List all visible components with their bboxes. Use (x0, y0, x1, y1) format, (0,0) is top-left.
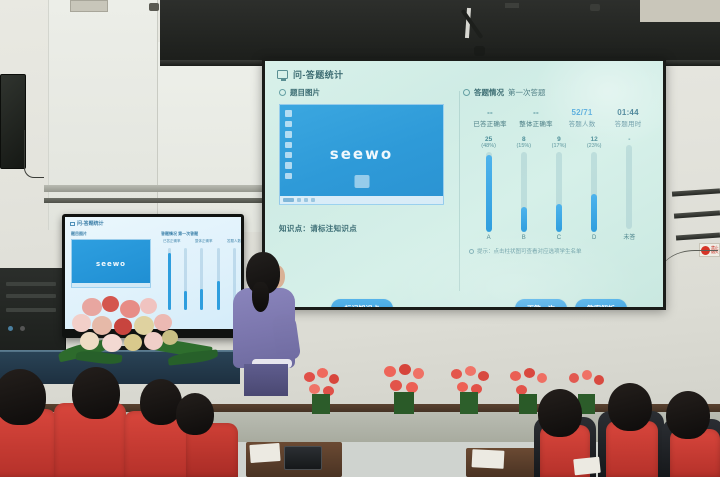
stat-label: 答题用时 (605, 118, 651, 128)
wall-panel-mid (158, 42, 270, 232)
foliage (312, 394, 330, 414)
podium-thumbnail-taskbar (72, 283, 150, 287)
podium-stats-row: 已答正确率 整体正确率 答题人数 (161, 239, 241, 244)
ceiling-sensor (590, 4, 600, 11)
foliage (394, 392, 414, 414)
flower (510, 371, 521, 381)
bar-track (521, 152, 527, 232)
bar-track (591, 152, 597, 232)
flower (317, 368, 328, 378)
podium-left-heading: 题目图片 (71, 231, 155, 237)
app-title-bar: 问-答题统计 (277, 68, 343, 81)
stat-answered-accuracy: -- 已答正确率 (467, 108, 513, 128)
bar-column-d[interactable]: 12 (23%) D (584, 136, 604, 241)
stat-respondent-count: 52/71 答题人数 (559, 108, 605, 128)
rose (72, 314, 91, 332)
audience-head (666, 391, 710, 439)
section-bullet-icon (463, 89, 470, 96)
rose (102, 334, 122, 352)
bar-column-b[interactable]: 8 (15%) B (514, 136, 534, 241)
flower (569, 373, 579, 383)
taskbar-item (311, 198, 315, 202)
cabinet-button[interactable] (20, 326, 25, 331)
projection-screen[interactable]: 问-答题统计 题目图片 (265, 61, 663, 307)
stat-value: -- (467, 108, 513, 117)
bar-value: 9 (557, 136, 561, 143)
audience-head (72, 367, 120, 419)
bar-column-a[interactable]: 25 (48%) A (479, 136, 499, 241)
panel-divider (459, 91, 460, 291)
cabinet-slot (6, 294, 56, 298)
taskbar-item (297, 198, 301, 202)
flower (457, 382, 468, 392)
answer-again-button[interactable]: 再答一次 (515, 299, 567, 307)
answer-stats-title: 答题情况 (474, 87, 504, 98)
rose (80, 332, 99, 350)
stat-elapsed-time: 01:44 答题用时 (605, 108, 651, 128)
bar-value: 12 (591, 136, 598, 143)
desktop-icon (285, 173, 292, 179)
monitor-icon (70, 222, 75, 226)
projection-screen-frame: 问-答题统计 题目图片 (262, 58, 666, 310)
stage-flower-arrangement (380, 364, 430, 414)
bar-track (626, 145, 632, 229)
bar-label: 未答 (623, 232, 635, 241)
paper-sheet (249, 443, 280, 463)
podium-stat-label: 已答正确率 (163, 239, 181, 244)
page-title: 问-答题统计 (293, 68, 343, 81)
desktop-icon (285, 110, 292, 117)
rose (92, 316, 112, 335)
podium-stat-label: 整体正确率 (195, 239, 213, 244)
audience-head (538, 389, 582, 437)
podium-left-panel: 题目图片 seewo (71, 231, 155, 288)
thumbnail-badge-icon (354, 175, 369, 188)
cabinet-slot (6, 308, 56, 312)
stats-row: -- 已答正确率 -- 整体正确率 52/71 答题人数 01:44 答题用时 (463, 104, 655, 128)
camera-icon (149, 3, 159, 11)
ceiling-valance (160, 0, 720, 66)
stage-flower-arrangement (446, 366, 494, 414)
classroom-scene: 禁止 烟火 问-答题统计 题目图片 (0, 0, 720, 477)
bar-label: B (522, 235, 526, 241)
bar-fill (556, 204, 562, 232)
seewo-logo: seewo (72, 240, 150, 287)
teacher-figure (222, 252, 306, 392)
bar-label: D (592, 235, 596, 241)
thumbnail-taskbar (280, 196, 443, 204)
paper-sheet (573, 457, 601, 476)
paper-sheet (472, 449, 505, 469)
stat-value: 01:44 (605, 108, 651, 117)
taskbar-item (283, 198, 294, 202)
podium-title: 问-答题统计 (70, 220, 104, 227)
bar-percent: (15%) (516, 143, 531, 150)
flower (594, 375, 604, 385)
taskbar-item (304, 198, 308, 202)
bar-fill (521, 207, 527, 232)
answer-stats-heading: 答题情况 第一次答题 (463, 87, 655, 98)
podium-thumbnail: seewo (71, 239, 151, 288)
rose (102, 296, 119, 312)
stat-overall-accuracy: -- 整体正确率 (513, 108, 559, 128)
lily (120, 300, 140, 318)
stage-flower-arrangement (300, 368, 344, 414)
speaker-cable (24, 130, 44, 178)
stat-value: 52/71 (559, 108, 605, 117)
knowledge-point-label: 知识点：请标注知识点 (279, 223, 457, 234)
bar-track (556, 152, 562, 232)
teacher-ponytail (252, 282, 269, 312)
flower (465, 366, 476, 376)
flower (524, 368, 535, 378)
answer-analysis-button[interactable]: 答案解析 (575, 299, 627, 307)
bar-column-c[interactable]: 9 (17%) C (549, 136, 569, 241)
podium-right-heading: 答题情况 第一次答题 (161, 231, 241, 237)
stat-label: 已答正确率 (467, 118, 513, 128)
rose (144, 332, 163, 350)
bar-percent: (23%) (587, 143, 602, 150)
audience-head (176, 393, 214, 435)
tablet-device[interactable] (284, 446, 322, 470)
flower (582, 370, 592, 380)
flower (329, 374, 339, 384)
bar-fill (486, 155, 492, 232)
podium-title-text: 问-答题统计 (77, 220, 104, 227)
flower (390, 380, 402, 391)
bar-percent: (17%) (552, 143, 567, 150)
stat-label: 答题人数 (559, 118, 605, 128)
lily (82, 298, 102, 316)
rose (154, 314, 172, 331)
wall-mount-bracket (70, 0, 108, 12)
monitor-icon (277, 70, 288, 79)
question-image-title: 题目图片 (290, 87, 320, 98)
answer-round-label: 第一次答题 (508, 87, 546, 98)
mark-knowledge-point-button[interactable]: 标记知识点 (331, 299, 393, 307)
answer-stats-panel: 答题情况 第一次答题 -- 已答正确率 -- 整体正确率 52/71 答题人数 (463, 87, 655, 292)
bar-label: A (487, 235, 491, 241)
equipment-cabinet (0, 268, 66, 363)
bar-value: 8 (522, 136, 526, 143)
audience-head (608, 383, 652, 431)
rose (140, 298, 157, 314)
flower (478, 371, 489, 381)
wall-ledge (44, 185, 274, 192)
stat-label: 整体正确率 (513, 118, 559, 128)
wall-speaker (0, 74, 26, 169)
desktop-icon (285, 131, 292, 138)
cabinet-slot (6, 282, 56, 286)
projector-icon (474, 46, 485, 56)
answer-distribution-chart[interactable]: 25 (48%) A 8 (15%) B (463, 136, 655, 241)
rose (124, 334, 142, 351)
flower (384, 366, 396, 377)
flower (537, 373, 547, 383)
foliage (460, 392, 478, 414)
desktop-icon (285, 162, 292, 169)
info-icon (469, 249, 474, 254)
wall-panel-left (48, 0, 158, 230)
rose (114, 318, 132, 335)
bar-fill (591, 194, 597, 232)
flower (399, 364, 411, 375)
chart-tip: 提示：点击柱状图可查看对应选项学生名单 (463, 247, 655, 255)
bar-value: 25 (485, 136, 492, 143)
question-image-heading: 题目图片 (279, 87, 457, 98)
question-thumbnail[interactable]: seewo (279, 104, 444, 205)
seewo-logo: seewo (280, 145, 443, 163)
flower-bouquet (58, 296, 228, 376)
tip-text: 提示：点击柱状图可查看对应选项学生名单 (477, 247, 582, 255)
flower (451, 369, 462, 379)
rose (162, 330, 178, 345)
ceiling-corner (640, 0, 720, 22)
bar-value: - (628, 136, 630, 143)
flower (309, 384, 320, 394)
flower (304, 372, 315, 382)
desktop-icon (285, 121, 292, 127)
stat-value: -- (513, 108, 559, 117)
bar-column-unanswered[interactable]: - 未答 (619, 136, 639, 241)
bar-track (486, 152, 492, 232)
podium-stat-label: 答题人数 (227, 239, 241, 244)
bar-label: C (557, 235, 561, 241)
foliage (519, 394, 537, 414)
flower (413, 368, 424, 379)
ceiling-fixture (505, 3, 519, 8)
bar-percent: (48%) (481, 143, 496, 150)
wall-ledge-shadow (44, 198, 274, 203)
section-bullet-icon (279, 89, 286, 96)
cabinet-power-button[interactable] (8, 326, 13, 331)
audience-head (0, 369, 46, 425)
teacher-skirt (244, 364, 288, 396)
